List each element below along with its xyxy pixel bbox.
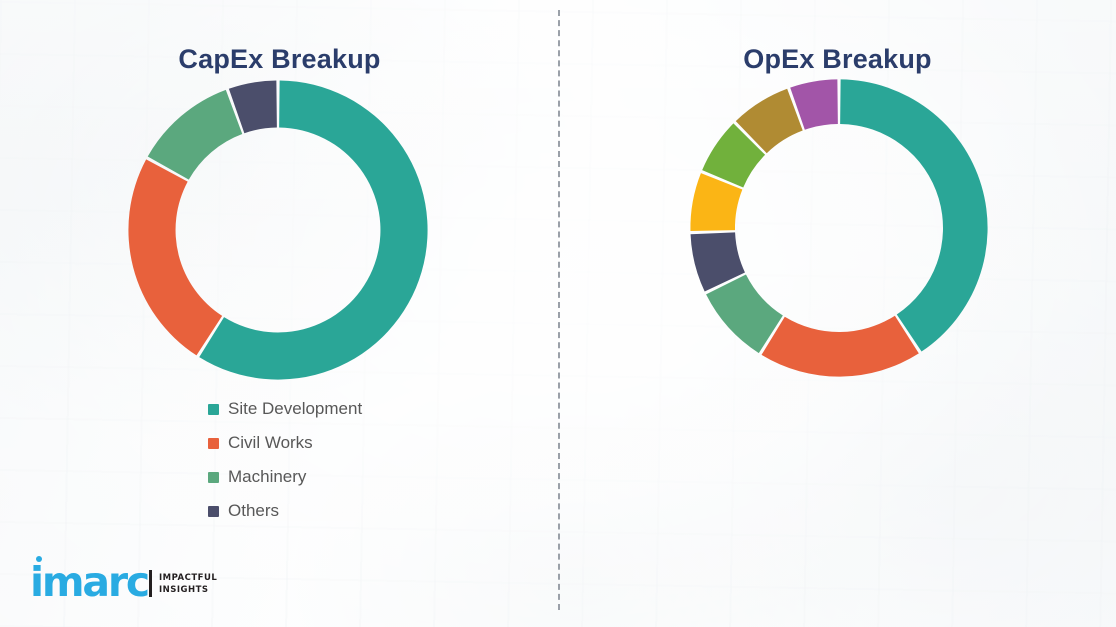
capex-legend: Site DevelopmentCivil WorksMachineryOthe… <box>208 392 362 528</box>
logo-tagline-line1: IMPACTFUL <box>159 573 217 584</box>
opex-donut-slice-raw-materials[interactable] <box>840 79 987 351</box>
capex-legend-label: Site Development <box>228 399 362 419</box>
opex-title: OpEx Breakup <box>559 44 1116 75</box>
capex-donut-slice-machinery[interactable] <box>148 90 243 180</box>
capex-legend-item[interactable]: Civil Works <box>208 426 362 460</box>
capex-legend-label: Machinery <box>228 467 306 487</box>
imarc-logo: imarc IMPACTFUL INSIGHTS <box>30 565 217 600</box>
logo-wordmark-group: imarc <box>30 565 148 600</box>
capex-title: CapEx Breakup <box>0 44 559 75</box>
capex-legend-swatch-icon <box>208 506 219 517</box>
opex-donut-svg <box>688 77 990 379</box>
opex-donut-chart <box>688 77 990 379</box>
capex-legend-item[interactable]: Site Development <box>208 392 362 426</box>
capex-panel: CapEx Breakup Site DevelopmentCivil Work… <box>0 0 559 627</box>
panel-divider <box>558 10 560 610</box>
capex-legend-label: Civil Works <box>228 433 313 453</box>
capex-legend-swatch-icon <box>208 472 219 483</box>
capex-legend-swatch-icon <box>208 438 219 449</box>
capex-donut-chart <box>126 78 430 382</box>
capex-legend-label: Others <box>228 501 279 521</box>
logo-wordmark: imarc <box>30 565 148 600</box>
capex-donut-slice-civil-works[interactable] <box>128 159 222 355</box>
capex-legend-swatch-icon <box>208 404 219 415</box>
opex-donut-slice-salaries-and-wages[interactable] <box>762 316 919 377</box>
logo-dot-icon <box>36 556 42 562</box>
capex-legend-item[interactable]: Others <box>208 494 362 528</box>
logo-tagline-line2: INSIGHTS <box>159 585 217 596</box>
logo-tagline: IMPACTFUL INSIGHTS <box>159 573 217 596</box>
logo-divider-bar-icon <box>149 570 152 597</box>
capex-legend-item[interactable]: Machinery <box>208 460 362 494</box>
capex-donut-svg <box>126 78 430 382</box>
opex-panel: OpEx Breakup Raw MaterialsSalaries and W… <box>559 0 1116 627</box>
